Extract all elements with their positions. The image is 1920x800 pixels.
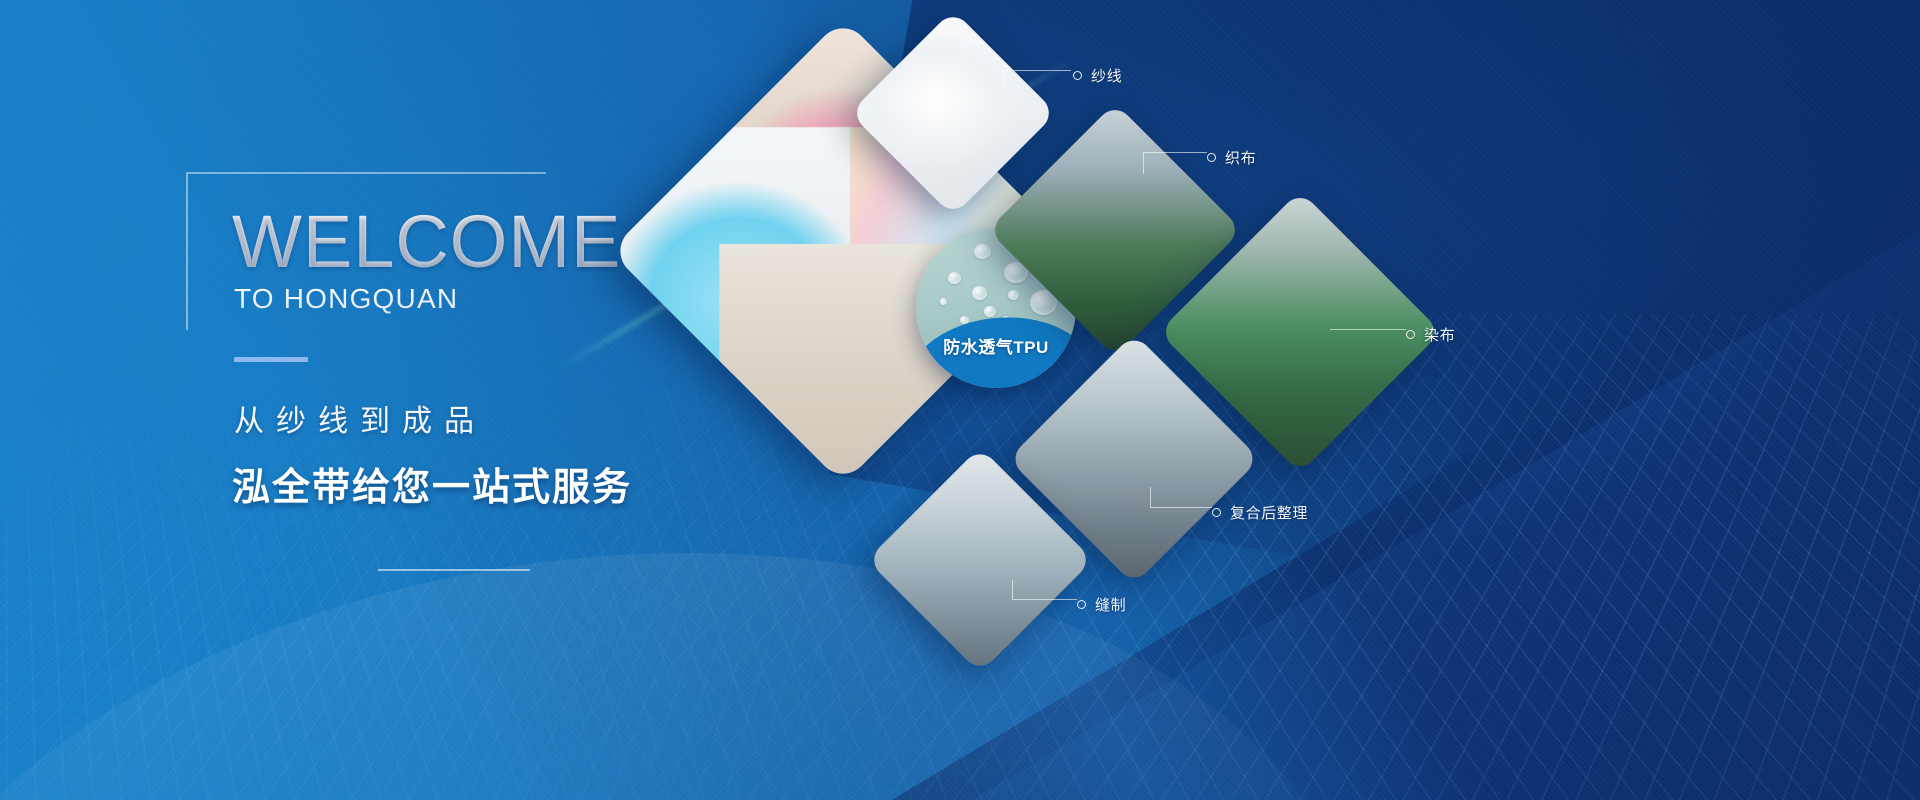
bottom-rule xyxy=(378,569,530,571)
product-process-cluster: 防水透气TPU xyxy=(560,0,1920,800)
badge-label: 防水透气TPU xyxy=(916,333,1076,358)
accent-rule xyxy=(234,357,308,362)
welcome-banner: WELCOME TO HONGQUAN 从纱线到成品 泓全带给您一站式服务 xyxy=(0,0,1920,800)
